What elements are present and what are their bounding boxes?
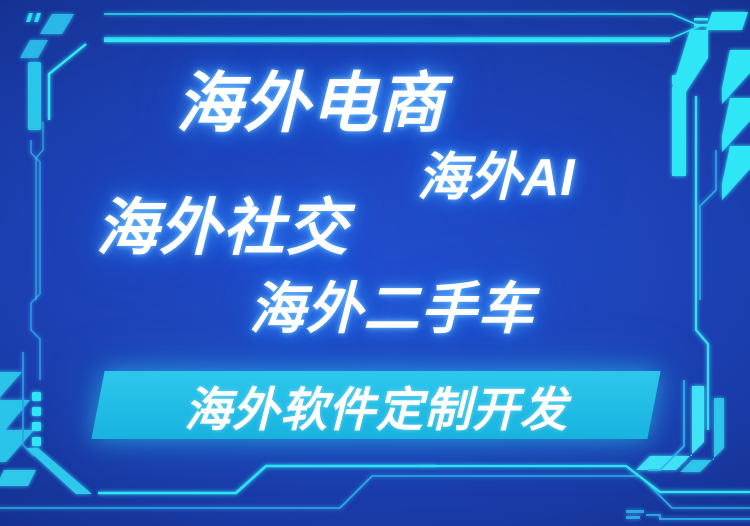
promo-poster: 海外电商 海外AI 海外社交 海外二手车 海外软件定制开发 <box>0 0 750 526</box>
keyword-used-car: 海外二手车 <box>249 281 535 337</box>
keyword-ai: 海外AI <box>417 152 575 204</box>
keyword-ecommerce: 海外电商 <box>176 70 445 136</box>
keyword-stack: 海外电商 海外AI 海外社交 海外二手车 海外软件定制开发 <box>0 0 750 526</box>
headline-banner-label: 海外软件定制开发 <box>98 371 654 439</box>
keyword-social: 海外社交 <box>96 198 349 260</box>
